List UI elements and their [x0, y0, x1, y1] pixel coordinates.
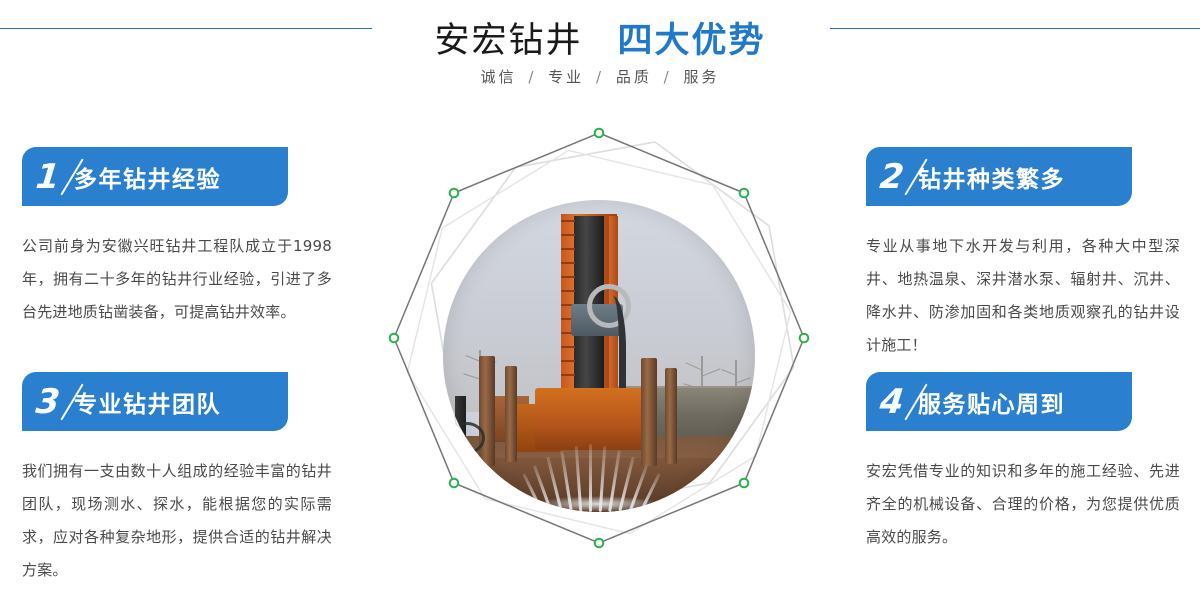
advantage-card-2[interactable]: 2 钻井种类繁多 专业从事地下水开发与利用，各种大中型深井、地热温泉、深井潜水泵…: [866, 147, 1196, 362]
page-title-highlight: 四大优势: [617, 21, 765, 61]
advantage-card-4[interactable]: 4 服务贴心周到 安宏凭借专业的知识和多年的施工经验、先进齐全的机械设备、合理的…: [866, 372, 1196, 554]
page-title-brand: 安宏钻井: [435, 21, 583, 61]
vertex-marker-icon: [595, 539, 604, 548]
badge-number-4: 4: [866, 372, 918, 431]
advantage-title-3: 专业钻井团队: [74, 385, 221, 419]
subtitle-separator-1: /: [592, 68, 608, 86]
subtitle-item-0: 诚信: [481, 68, 517, 86]
advantage-body-2: 专业从事地下水开发与利用，各种大中型深井、地热温泉、深井潜水泵、辐射井、沉井、降…: [866, 230, 1180, 362]
subtitle-separator-0: /: [524, 68, 540, 86]
center-graphic: [370, 110, 830, 590]
badge-number-glyph: 3: [34, 385, 61, 419]
advantage-body-4: 安宏凭借专业的知识和多年的施工经验、先进齐全的机械设备、合理的价格，为您提供优质…: [866, 455, 1180, 554]
badge-number-2: 2: [866, 147, 918, 206]
vertex-marker-icon: [390, 334, 399, 343]
photo-vignette: [443, 200, 755, 512]
photo-scene: [443, 200, 755, 512]
page-title: 安宏钻井 四大优势: [0, 12, 1200, 63]
vertex-marker-icon: [595, 129, 604, 138]
badge-number-3: 3: [22, 372, 74, 431]
badge-number-glyph: 4: [878, 385, 905, 419]
advantage-title-2: 钻井种类繁多: [918, 160, 1065, 194]
subtitle-item-2: 品质: [616, 68, 652, 86]
advantage-card-3[interactable]: 3 专业钻井团队 我们拥有一支由数十人组成的经验丰富的钻井团队，现场测水、探水，…: [22, 372, 352, 587]
advantage-badge-2: 2 钻井种类繁多: [866, 147, 1132, 206]
vertex-marker-icon: [450, 189, 459, 198]
advantage-title-1: 多年钻井经验: [74, 160, 221, 194]
drilling-site-photo: [443, 200, 755, 512]
vertex-marker-icon: [740, 189, 749, 198]
advantage-card-1[interactable]: 1 多年钻井经验 公司前身为安徽兴旺钻井工程队成立于1998年，拥有二十多年的钻…: [22, 147, 352, 329]
badge-number-glyph: 2: [878, 160, 905, 194]
advantage-badge-4: 4 服务贴心周到: [866, 372, 1132, 431]
badge-number-1: 1: [22, 147, 74, 206]
advantage-title-4: 服务贴心周到: [918, 385, 1065, 419]
badge-number-glyph: 1: [34, 160, 61, 194]
advantage-body-3: 我们拥有一支由数十人组成的经验丰富的钻井团队，现场测水、探水，能根据您的实际需求…: [22, 455, 332, 587]
advantage-body-1: 公司前身为安徽兴旺钻井工程队成立于1998年，拥有二十多年的钻井行业经验，引进了…: [22, 230, 332, 329]
page-header: 安宏钻井 四大优势 诚信 / 专业 / 品质 / 服务: [0, 0, 1200, 112]
subtitle-item-3: 服务: [683, 68, 719, 86]
advantage-badge-3: 3 专业钻井团队: [22, 372, 288, 431]
advantage-badge-1: 1 多年钻井经验: [22, 147, 288, 206]
subtitle-separator-2: /: [660, 68, 676, 86]
page-subtitle: 诚信 / 专业 / 品质 / 服务: [0, 66, 1200, 87]
advantages-banner: 安宏钻井 四大优势 诚信 / 专业 / 品质 / 服务 1 多年钻井经验 公司前…: [0, 0, 1200, 600]
subtitle-item-1: 专业: [548, 68, 584, 86]
vertex-marker-icon: [800, 334, 809, 343]
